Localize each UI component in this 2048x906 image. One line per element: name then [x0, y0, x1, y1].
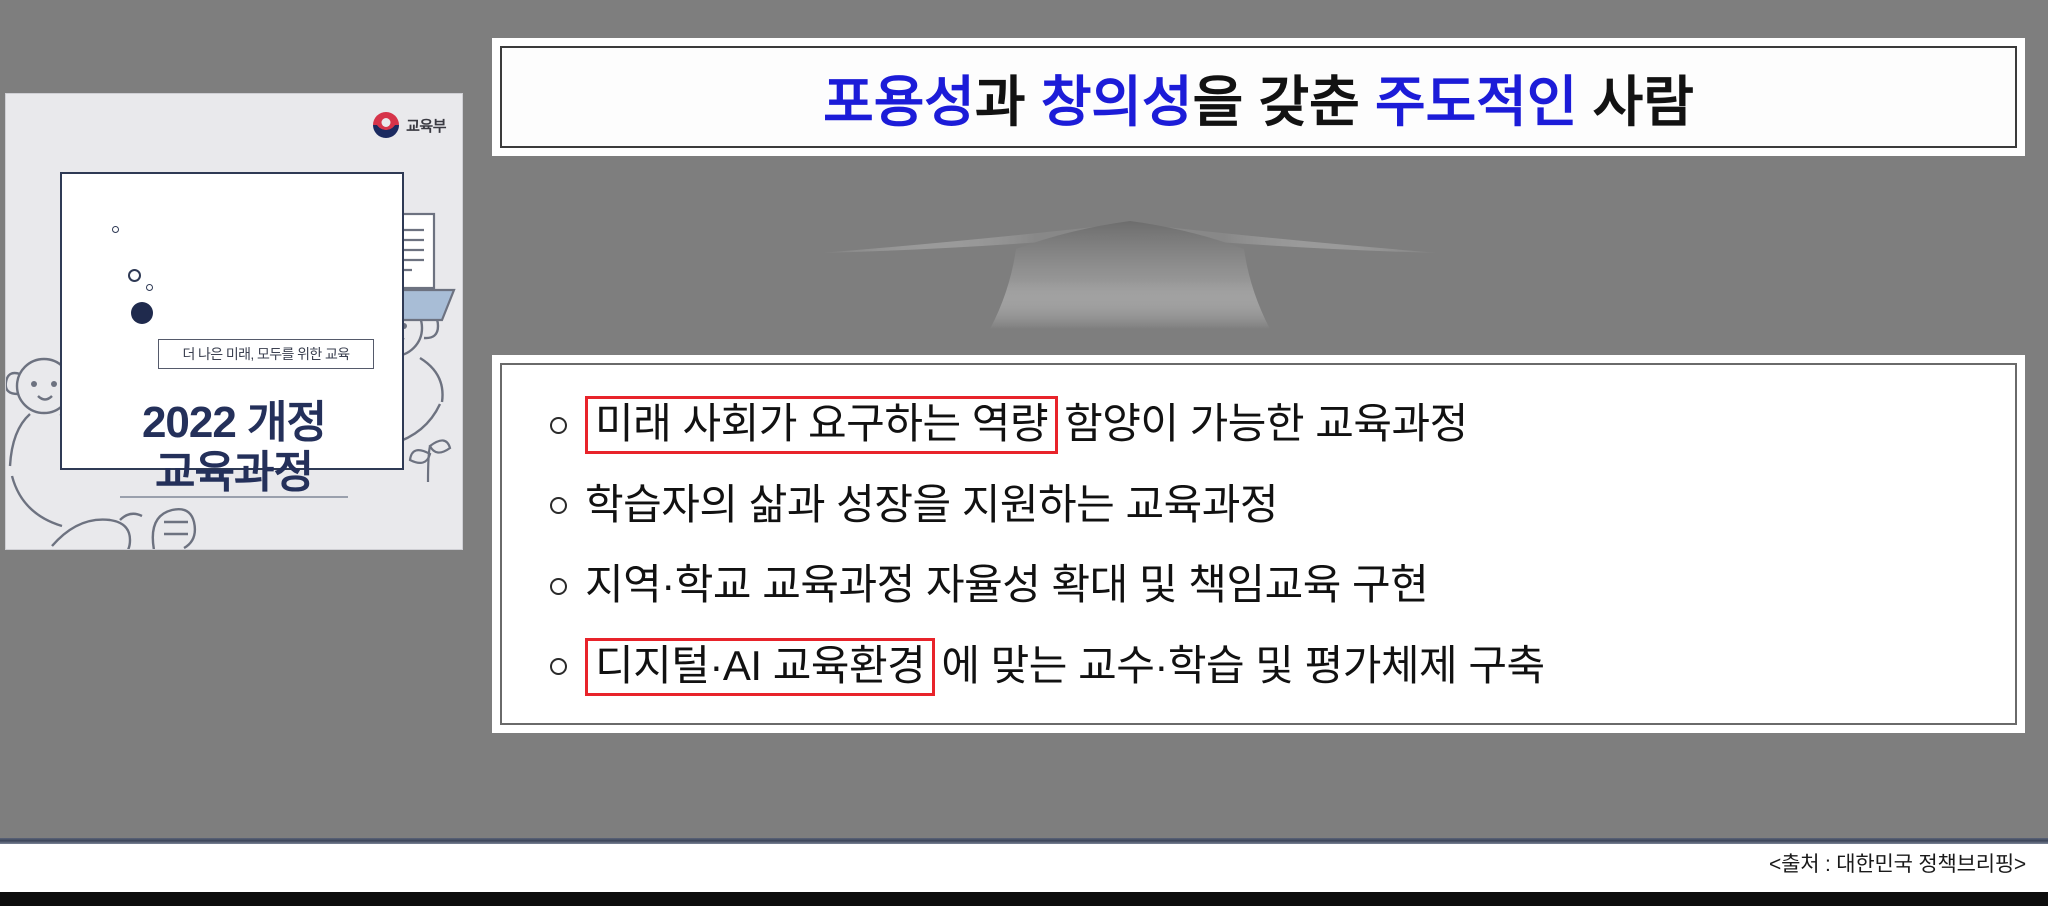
highlight-box-1: 미래 사회가 요구하는 역량 [585, 396, 1058, 454]
headline-segment-4: 주도적인 [1375, 71, 1577, 133]
highlight-box-4: 디지털·AI 교육환경 [585, 638, 935, 696]
list-item: 디지털·AI 교육환경에 맞는 교수·학습 및 평가체제 구축 [528, 629, 1989, 705]
decor-dot-tiny [146, 284, 153, 291]
bullet-text-2: 학습자의 삶과 성장을 지원하는 교육과정 [585, 480, 1278, 532]
list-item: 지역·학교 교육과정 자율성 확대 및 책임교육 구현 [528, 548, 1989, 624]
curriculum-poster-thumbnail: 교육부 [5, 93, 463, 550]
bullet-list-panel: 미래 사회가 요구하는 역량 함양이 가능한 교육과정 학습자의 삶과 성장을 … [492, 355, 2025, 733]
source-citation: <출처 : 대한민국 정책브리핑> [1769, 848, 2026, 878]
headline-segment-3: 을 갖춘 [1193, 71, 1375, 133]
list-item: 미래 사회가 요구하는 역량 함양이 가능한 교육과정 [528, 387, 1989, 463]
bullet-rest-4: 에 맞는 교수·학습 및 평가체제 구축 [941, 641, 1544, 693]
headline-box: 포용성과 창의성을 갖춘 주도적인 사람 [500, 46, 2017, 148]
decor-dot-ring [128, 269, 141, 282]
bullet-rest-1: 함양이 가능한 교육과정 [1064, 399, 1468, 451]
poster-divider [120, 496, 348, 498]
headline-segment-5: 사람 [1577, 71, 1693, 133]
headline-segment-0: 포용성 [823, 71, 975, 133]
footer-band [0, 844, 2048, 892]
poster-inner-card: 더 나은 미래, 모두를 위한 교육 2022 개정 교육과정 [60, 172, 404, 470]
bullet-circle-icon [550, 658, 567, 675]
bullet-list: 미래 사회가 요구하는 역량 함양이 가능한 교육과정 학습자의 삶과 성장을 … [500, 363, 2017, 725]
bullet-text-1: 미래 사회가 요구하는 역량 함양이 가능한 교육과정 [585, 396, 1468, 454]
headline-segment-1: 과 [975, 71, 1041, 133]
downward-arrow-graphic [820, 205, 1440, 335]
headline-panel: 포용성과 창의성을 갖춘 주도적인 사람 [492, 38, 2025, 156]
decor-dot-small [112, 226, 119, 233]
bullet-circle-icon [550, 578, 567, 595]
poster-tagline: 더 나은 미래, 모두를 위한 교육 [158, 339, 374, 369]
list-item: 학습자의 삶과 성장을 지원하는 교육과정 [528, 468, 1989, 544]
bullet-rest-3: 지역·학교 교육과정 자율성 확대 및 책임교육 구현 [585, 560, 1428, 612]
taegeuk-icon [373, 112, 399, 138]
decor-dot-filled [131, 302, 153, 324]
sprout-illustration [406, 424, 452, 484]
bullet-circle-icon [550, 497, 567, 514]
bullet-text-3: 지역·학교 교육과정 자율성 확대 및 책임교육 구현 [585, 560, 1428, 612]
page-title: 포용성과 창의성을 갖춘 주도적인 사람 [823, 57, 1694, 137]
bullet-circle-icon [550, 417, 567, 434]
poster-title-line2: 교육과정 [62, 436, 406, 500]
ministry-label: 교육부 [406, 115, 446, 136]
screen-letterbox [0, 892, 2048, 906]
slide-stage: 교육부 [0, 0, 2048, 906]
bullet-rest-2: 학습자의 삶과 성장을 지원하는 교육과정 [585, 480, 1278, 532]
ministry-of-education-logo: 교육부 [373, 112, 446, 138]
headline-segment-2: 창의성 [1041, 71, 1193, 133]
bullet-text-4: 디지털·AI 교육환경에 맞는 교수·학습 및 평가체제 구축 [585, 638, 1545, 696]
